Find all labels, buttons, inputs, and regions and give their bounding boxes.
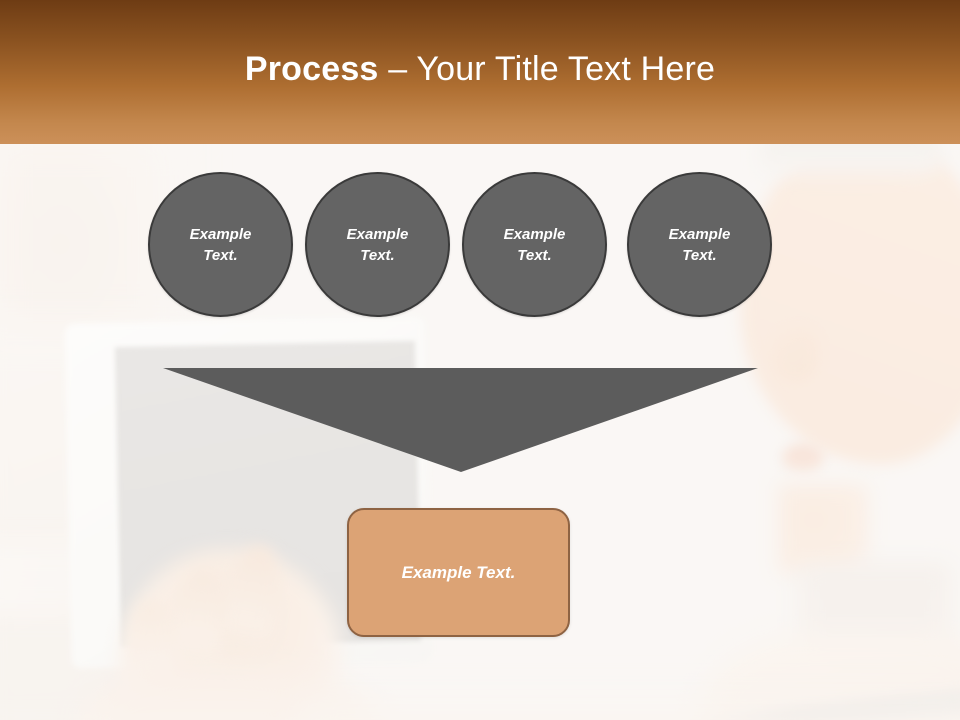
process-circle-2[interactable]: Example Text. [305,172,450,317]
slide-header-band: Process – Your Title Text Here [0,0,960,144]
result-box[interactable]: Example Text. [347,508,570,637]
background-chin [778,484,868,574]
page-title-strong: Process [245,50,379,88]
process-circle-label: Example Text. [347,224,409,266]
process-circle-label: Example Text. [669,224,731,266]
process-circle-4[interactable]: Example Text. [627,172,772,317]
presentation-slide: Process – Your Title Text Here Example T… [0,0,960,720]
page-title-rest: – Your Title Text Here [379,50,716,88]
background-lips [782,444,824,472]
page-title: Process – Your Title Text Here [0,47,960,91]
background-head [740,144,960,464]
background-hair [760,144,940,184]
result-box-label: Example Text. [402,563,516,583]
background-sheet [300,684,960,720]
process-circle-label: Example Text. [190,224,252,266]
process-circle-1[interactable]: Example Text. [148,172,293,317]
process-circle-label: Example Text. [504,224,566,266]
process-circle-3[interactable]: Example Text. [462,172,607,317]
background-nose [772,329,818,381]
down-arrow-icon[interactable] [160,364,760,476]
